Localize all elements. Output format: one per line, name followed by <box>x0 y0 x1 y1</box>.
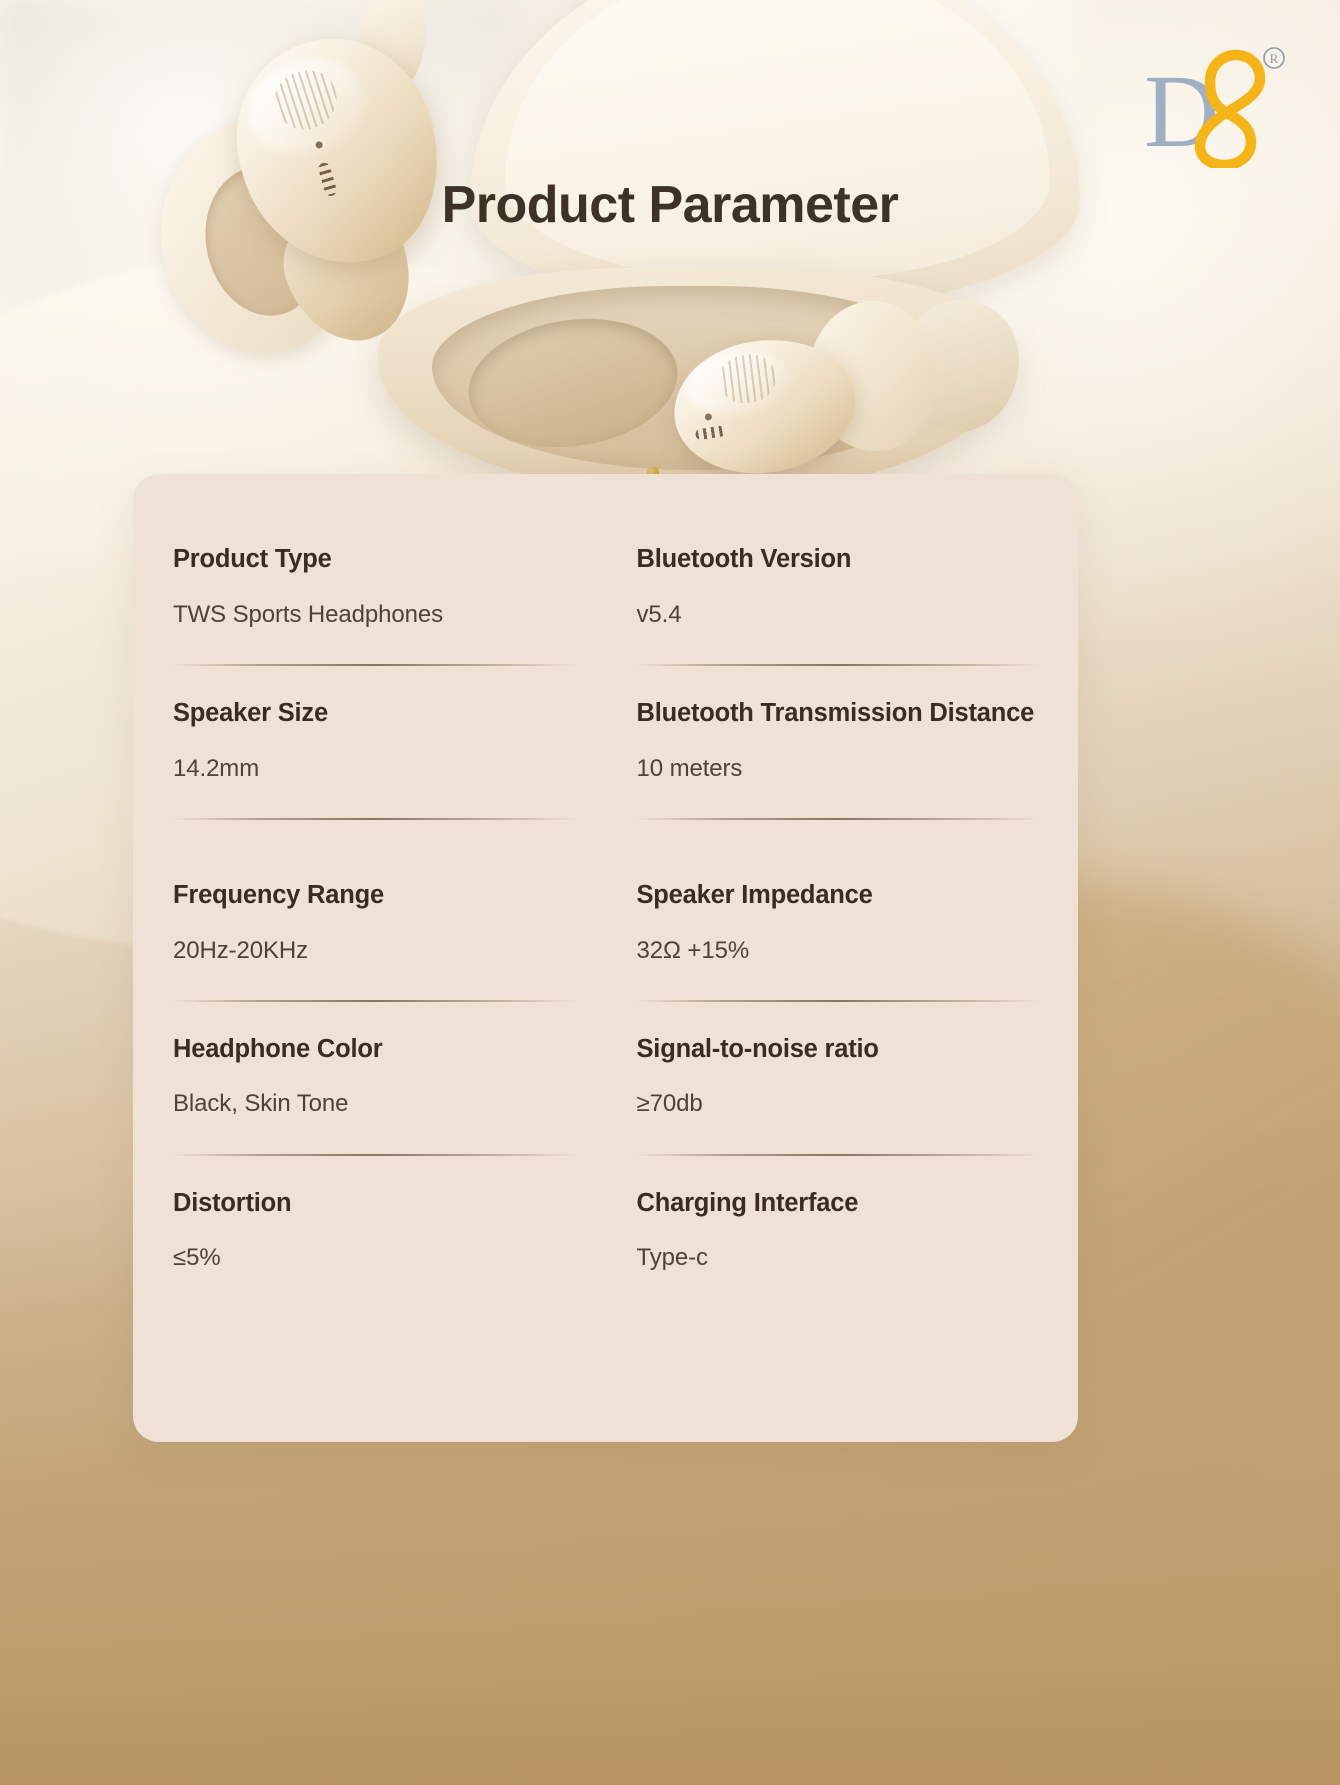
spec-value: ≤5% <box>173 1242 577 1273</box>
spec-value: TWS Sports Headphones <box>173 599 577 630</box>
spec-label: Distortion <box>173 1186 577 1221</box>
spec-divider <box>171 1000 577 1002</box>
spec-cell: Frequency Range 20Hz-20KHz <box>171 878 577 1032</box>
spec-cell: Headphone Color Black, Skin Tone <box>171 1032 577 1186</box>
spec-value: 20Hz-20KHz <box>173 935 577 966</box>
spec-divider <box>171 1154 577 1156</box>
spec-cell: Product Type TWS Sports Headphones <box>171 542 577 696</box>
spec-divider <box>635 1000 1041 1002</box>
spec-cell: Distortion ≤5% <box>171 1186 577 1340</box>
spec-label: Signal-to-noise ratio <box>637 1032 1041 1067</box>
spec-label: Headphone Color <box>173 1032 577 1067</box>
spec-cell: Bluetooth Version v5.4 <box>635 542 1041 696</box>
brand-logo: D R <box>1138 36 1288 168</box>
spec-divider <box>635 818 1041 820</box>
spec-divider <box>171 818 577 820</box>
spec-label: Bluetooth Version <box>637 542 1041 577</box>
spec-cell: Signal-to-noise ratio ≥70db <box>635 1032 1041 1186</box>
logo-registered-icon: R <box>1264 48 1284 68</box>
spec-value: 14.2mm <box>173 753 577 784</box>
spec-label: Speaker Size <box>173 696 577 731</box>
product-parameter-page: D R Product Parameter Product Type TWS S… <box>0 0 1340 1785</box>
spec-cell: Charging Interface Type-c <box>635 1186 1041 1340</box>
spec-value: Black, Skin Tone <box>173 1088 577 1119</box>
spec-divider <box>171 664 577 666</box>
spec-cell: Speaker Size 14.2mm <box>171 696 577 878</box>
spec-label: Bluetooth Transmission Distance <box>637 696 1041 731</box>
spec-value: v5.4 <box>637 599 1041 630</box>
spec-label: Charging Interface <box>637 1186 1041 1221</box>
spec-value: Type-c <box>637 1242 1041 1273</box>
page-title: Product Parameter <box>0 175 1340 235</box>
spec-cell: Bluetooth Transmission Distance 10 meter… <box>635 696 1041 878</box>
spec-label: Speaker Impedance <box>637 878 1041 913</box>
svg-text:R: R <box>1270 51 1279 66</box>
spec-value: 10 meters <box>637 753 1041 784</box>
spec-cell: Speaker Impedance 32Ω +15% <box>635 878 1041 1032</box>
spec-value: 32Ω +15% <box>637 935 1041 966</box>
spec-label: Frequency Range <box>173 878 577 913</box>
spec-card: Product Type TWS Sports Headphones Bluet… <box>133 474 1078 1442</box>
spec-value: ≥70db <box>637 1088 1041 1119</box>
charging-case-lid-inner <box>505 0 1050 280</box>
spec-divider <box>635 1154 1041 1156</box>
spec-divider <box>635 664 1041 666</box>
spec-table: Product Type TWS Sports Headphones Bluet… <box>171 542 1040 1339</box>
spec-label: Product Type <box>173 542 577 577</box>
